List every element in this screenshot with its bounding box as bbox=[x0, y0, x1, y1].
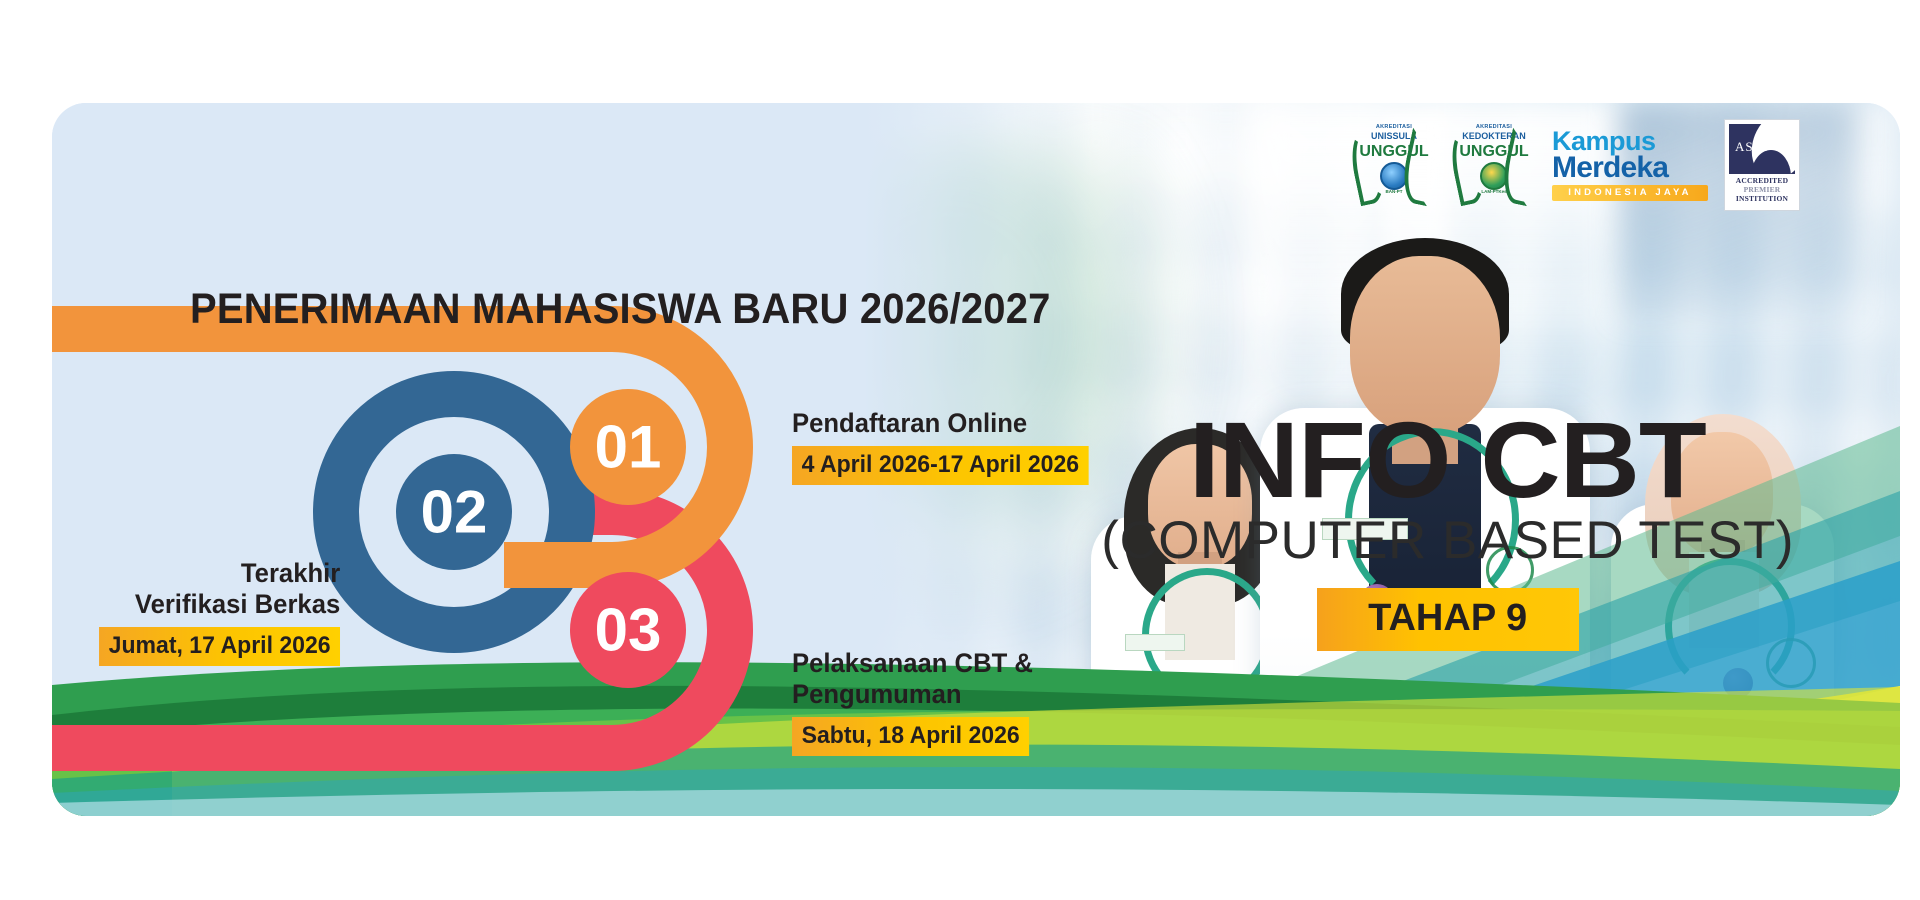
banner-stage: 01 02 03 PENERIMAAN MAHASISWA BARU 2026/… bbox=[0, 0, 1920, 900]
info-subheadline: (COMPUTER BASED TEST) bbox=[1101, 512, 1794, 570]
stage-badge: TAHAP 9 bbox=[1317, 588, 1579, 651]
asic-line3: INSTITUTION bbox=[1736, 194, 1788, 203]
step-date-badge: Sabtu, 18 April 2026 bbox=[792, 717, 1029, 756]
step-number-03: 03 bbox=[595, 597, 662, 664]
step-number-02: 02 bbox=[421, 479, 488, 546]
step-date-badge: 4 April 2026-17 April 2026 bbox=[792, 446, 1089, 485]
admission-banner: 01 02 03 PENERIMAAN MAHASISWA BARU 2026/… bbox=[52, 103, 1900, 816]
step-number-01: 01 bbox=[595, 414, 662, 481]
asic-line2: PREMIER bbox=[1744, 185, 1781, 194]
step-item-01: Pendaftaran Online 4 April 2026-17 April… bbox=[792, 408, 1101, 485]
info-headline: INFO CBT bbox=[1091, 410, 1804, 510]
step-date-badge: Jumat, 17 April 2026 bbox=[99, 627, 340, 666]
asic-mark: ASIC bbox=[1735, 139, 1769, 155]
laurel-wreath-icon: AKREDITASI UNISSULA UNGGUL BAN-PT bbox=[1352, 124, 1436, 206]
kampus-merdeka-line2: Merdeka bbox=[1552, 154, 1708, 182]
laurel-wreath-icon: AKREDITASI KEDOKTERAN UNGGUL LAM-PTKes bbox=[1452, 124, 1536, 206]
step-title: Pelaksanaan CBT & Pengumuman bbox=[792, 648, 1033, 710]
asic-line1: ACCREDITED bbox=[1736, 176, 1788, 185]
logo-akreditasi-unissula: AKREDITASI UNISSULA UNGGUL BAN-PT bbox=[1352, 119, 1436, 206]
logo-akreditasi-kedokteran: AKREDITASI KEDOKTERAN UNGGUL LAM-PTKes bbox=[1452, 119, 1536, 206]
accreditation-logos: AKREDITASI UNISSULA UNGGUL BAN-PT AKREDI… bbox=[1352, 119, 1800, 211]
asic-swoosh-icon: ASIC bbox=[1729, 124, 1795, 174]
step-title: Pendaftaran Online bbox=[792, 408, 1086, 439]
logo-asic: ASIC ACCREDITED PREMIER INSTITUTION bbox=[1724, 119, 1800, 211]
step-item-02: Terakhir Verifikasi Berkas Jumat, 17 Apr… bbox=[89, 558, 340, 666]
page-title: PENERIMAAN MAHASISWA BARU 2026/2027 bbox=[190, 285, 1051, 334]
logo-kampus-merdeka: Kampus Merdeka INDONESIA JAYA bbox=[1552, 119, 1708, 201]
info-cbt-block: INFO CBT (COMPUTER BASED TEST) TAHAP 9 bbox=[1101, 410, 1794, 651]
step-title: Terakhir Verifikasi Berkas bbox=[101, 558, 340, 620]
step-item-03: Pelaksanaan CBT & Pengumuman Sabtu, 18 A… bbox=[792, 648, 1046, 756]
kampus-merdeka-tagline: INDONESIA JAYA bbox=[1552, 185, 1708, 201]
